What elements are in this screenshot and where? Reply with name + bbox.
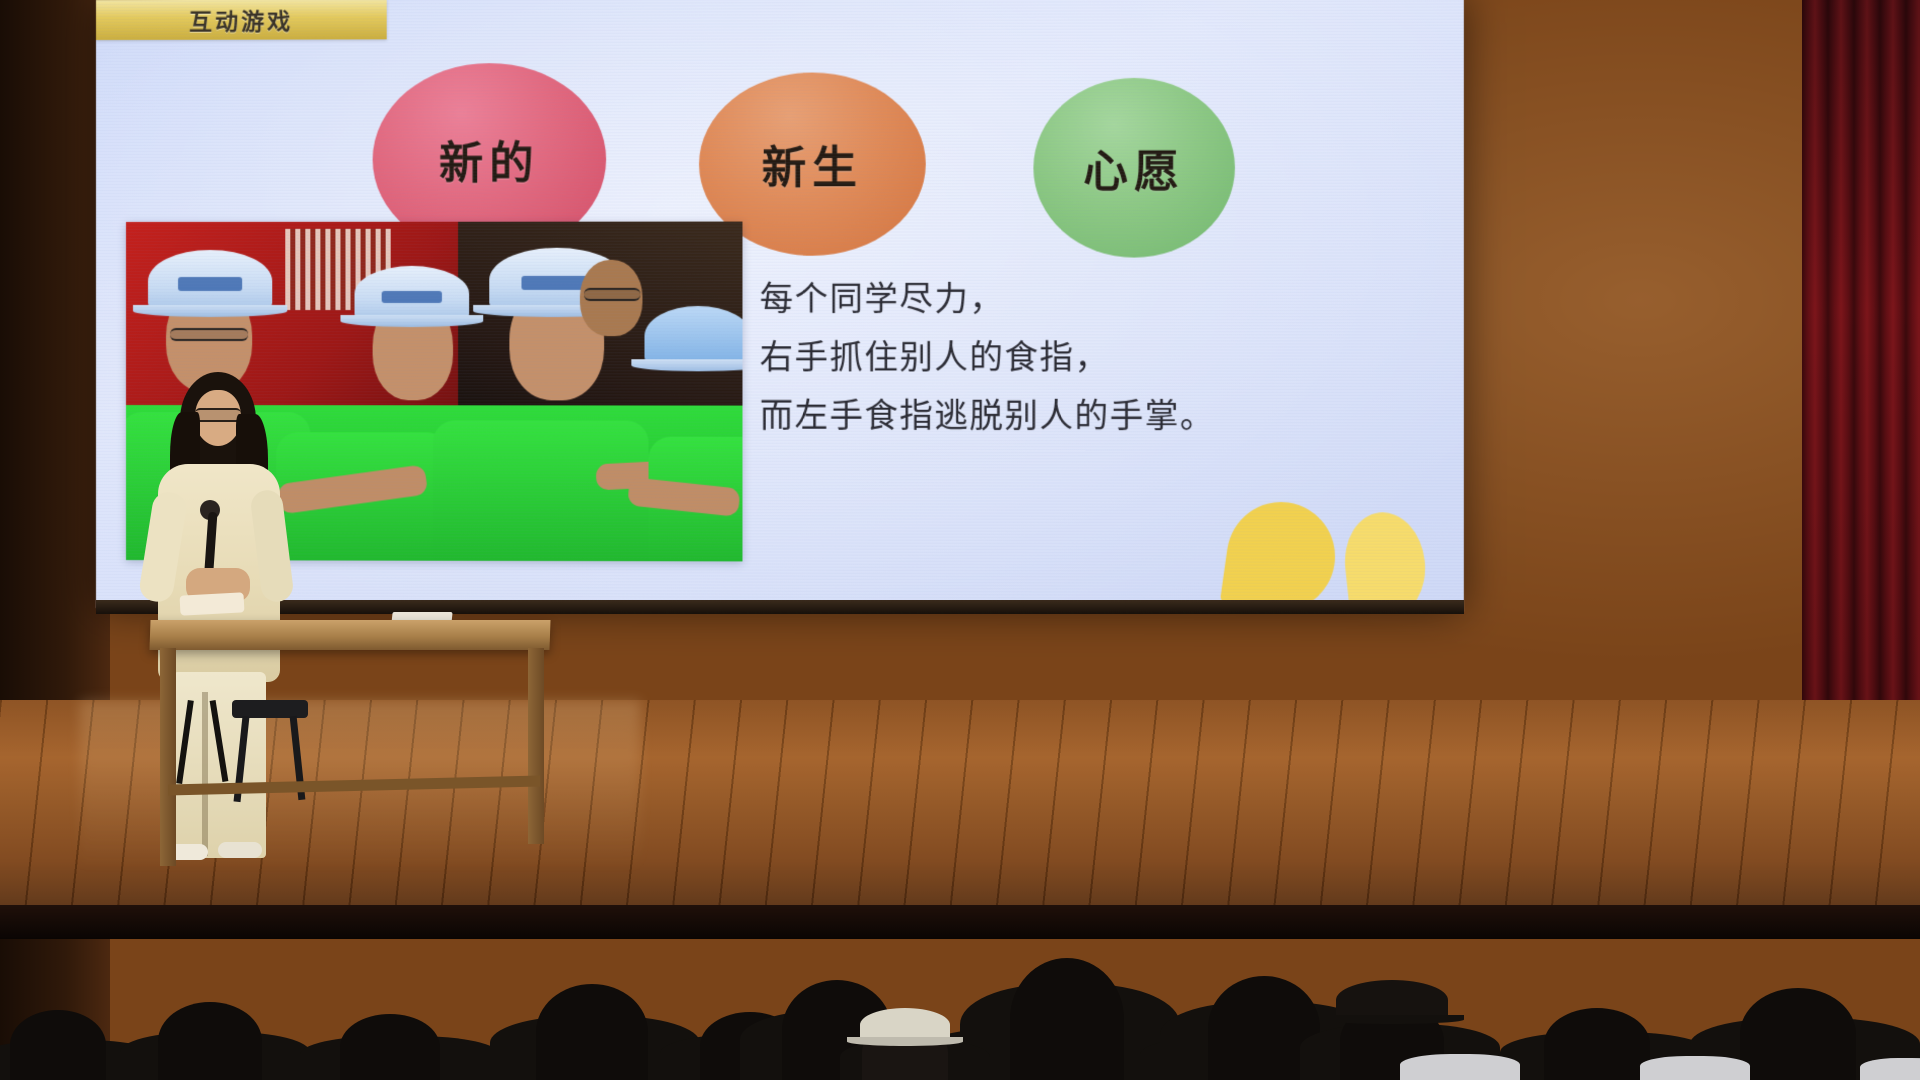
tripod-stand bbox=[176, 700, 232, 786]
audience-head bbox=[158, 1002, 262, 1080]
audience-foreground bbox=[0, 850, 1920, 1080]
slide-decoration bbox=[1178, 490, 1464, 612]
student-torso bbox=[433, 420, 649, 561]
cap-logo bbox=[382, 291, 442, 303]
audience-light-shirt bbox=[1640, 1056, 1750, 1080]
audience-head bbox=[10, 1010, 106, 1080]
tripod-leg bbox=[210, 700, 229, 782]
petal-shape-1 bbox=[1220, 495, 1342, 612]
student-cap bbox=[148, 250, 272, 312]
cap-logo bbox=[178, 277, 243, 291]
bubble-wish: 心愿 bbox=[1033, 78, 1235, 258]
slide-title-text: 互动游戏 bbox=[189, 2, 293, 36]
body-line-3: 而左手食指逃脱别人的手掌。 bbox=[760, 386, 1411, 445]
audience-black-cap bbox=[1336, 980, 1448, 1020]
petal-shape-2 bbox=[1340, 509, 1430, 612]
student-glasses bbox=[584, 288, 640, 301]
bubble-label: 心愿 bbox=[1083, 135, 1185, 200]
table-leg-right bbox=[528, 648, 544, 844]
audience-head bbox=[536, 984, 648, 1080]
projection-screen: 互动游戏 新的 新生 心愿 bbox=[96, 0, 1464, 612]
presenter-glasses bbox=[195, 408, 241, 422]
audience-light-shirt bbox=[1860, 1058, 1920, 1080]
audience-head bbox=[340, 1014, 440, 1080]
student-glasses bbox=[170, 328, 248, 341]
audience-head bbox=[1544, 1008, 1650, 1080]
tripod-leg bbox=[176, 700, 194, 784]
body-line-1: 每个同学尽力， bbox=[760, 270, 1411, 329]
body-line-2: 右手抓住别人的食指， bbox=[760, 328, 1411, 387]
slide-body-text: 每个同学尽力， 右手抓住别人的食指， 而左手食指逃脱别人的手掌。 bbox=[760, 270, 1411, 446]
audience-white-cap bbox=[860, 1008, 950, 1042]
student-cap bbox=[644, 306, 742, 366]
presentation-slide: 互动游戏 新的 新生 心愿 bbox=[96, 0, 1464, 612]
auditorium-scene: 互动游戏 新的 新生 心愿 bbox=[0, 0, 1920, 1080]
audience-head bbox=[1740, 988, 1856, 1080]
audience-head bbox=[1010, 958, 1124, 1080]
bubble-label: 新生 bbox=[762, 132, 863, 197]
presenter-notes bbox=[180, 592, 245, 615]
table-leg-left bbox=[160, 648, 176, 866]
screen-bottom-frame bbox=[96, 600, 1464, 614]
student-cap bbox=[355, 266, 470, 322]
audience-light-shirt bbox=[1400, 1054, 1520, 1080]
bubble-label: 新的 bbox=[439, 127, 540, 191]
slide-title-banner: 互动游戏 bbox=[96, 0, 387, 40]
table-top bbox=[149, 620, 550, 650]
stage-curtain bbox=[1802, 0, 1920, 770]
